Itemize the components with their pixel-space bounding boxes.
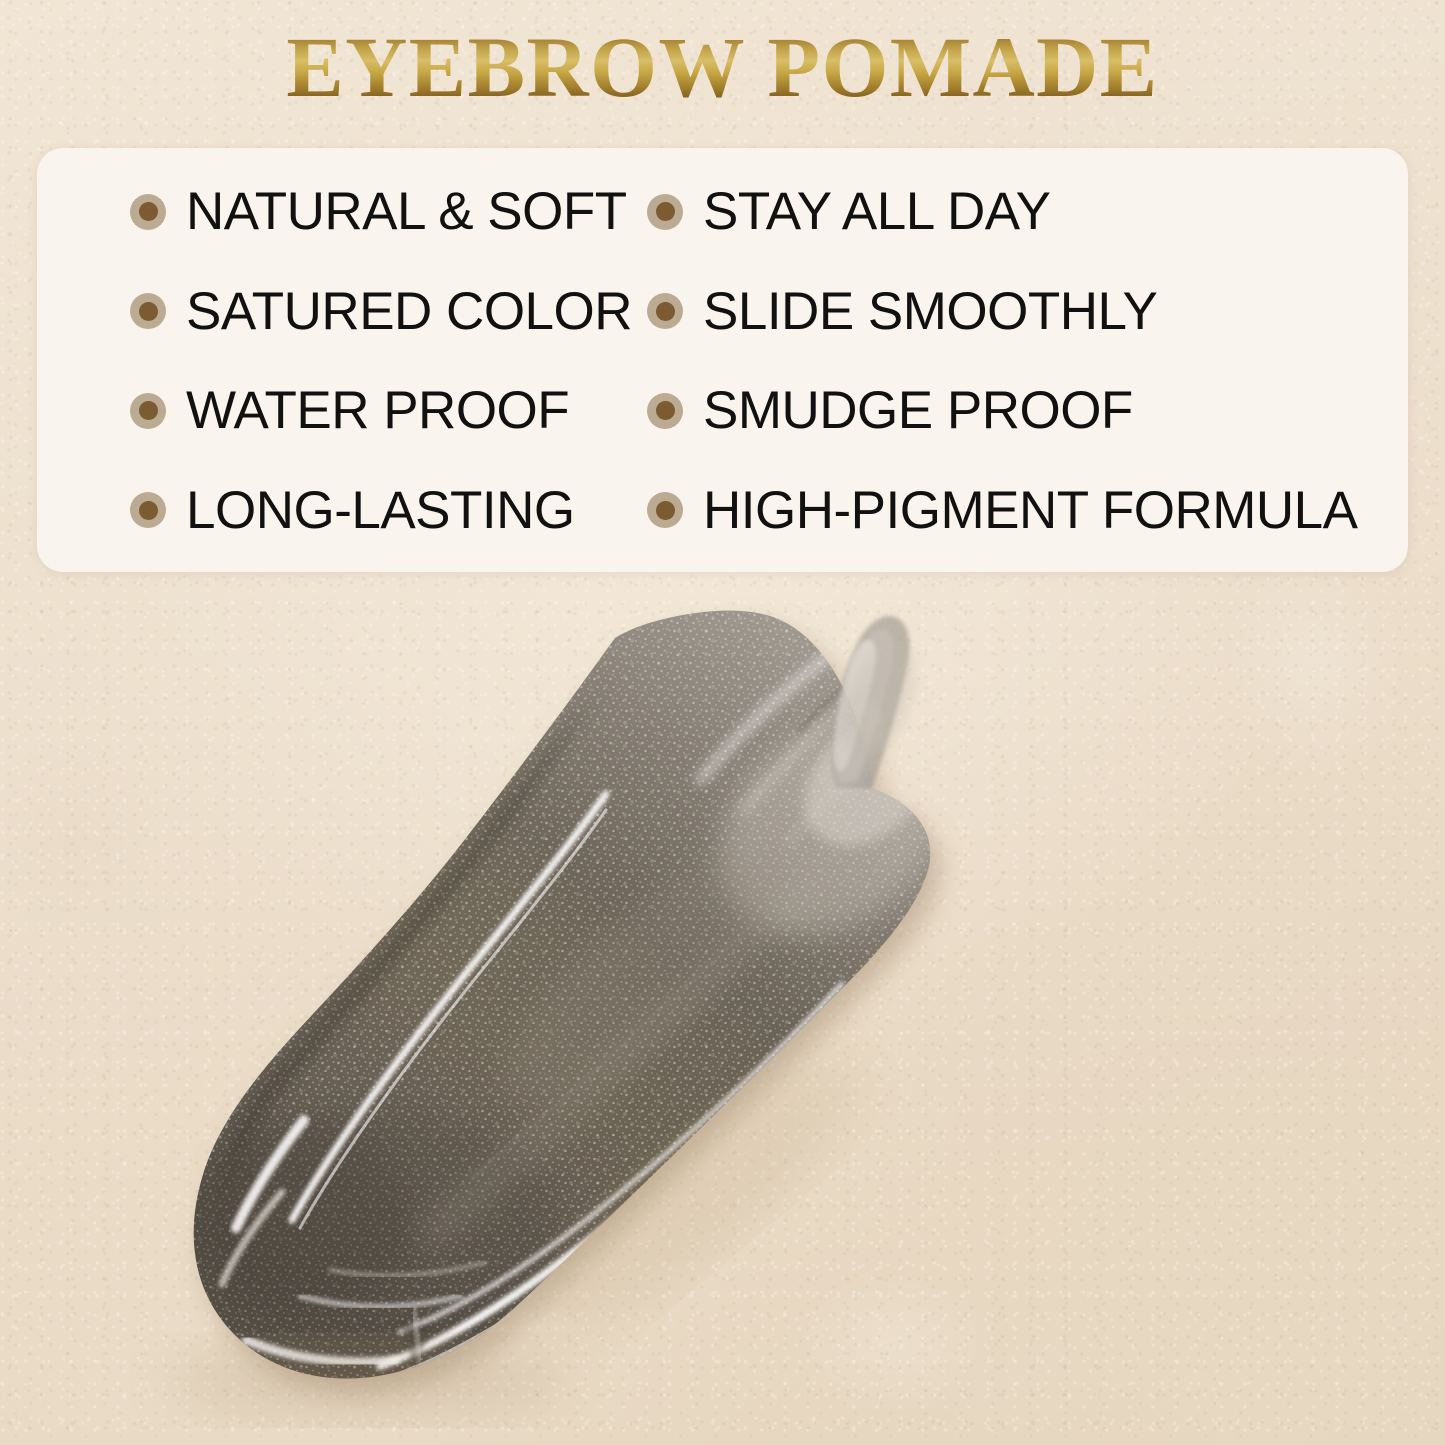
bullet-dot-icon [647,393,683,429]
bullet-dot-icon [647,492,683,528]
swatch-contact-shadow [168,1340,568,1420]
features-grid: NATURAL & SOFT STAY ALL DAY SATURED COLO… [37,148,1408,572]
product-swatch [0,580,1445,1445]
bullet-dot-icon [130,194,166,230]
feature-label: WATER PROOF [186,384,569,437]
feature-label: STAY ALL DAY [703,185,1051,238]
bullet-dot-icon [647,293,683,329]
features-card: NATURAL & SOFT STAY ALL DAY SATURED COLO… [37,148,1408,572]
feature-item-slide-smoothly: SLIDE SMOOTHLY [617,262,1408,362]
feature-label: HIGH-PIGMENT FORMULA [703,484,1358,537]
page-title: EYEBROW POMADE [0,22,1445,112]
feature-item-smudge-proof: SMUDGE PROOF [617,361,1408,461]
feature-item-satured-color: SATURED COLOR [37,262,617,362]
feature-item-water-proof: WATER PROOF [37,361,617,461]
feature-label: LONG-LASTING [186,484,575,537]
feature-item-long-lasting: LONG-LASTING [37,461,617,561]
pomade-swatch-illustration [0,580,1445,1445]
feature-item-natural-soft: NATURAL & SOFT [37,162,617,262]
feature-item-stay-all-day: STAY ALL DAY [617,162,1408,262]
feature-item-high-pigment-formula: HIGH-PIGMENT FORMULA [617,461,1408,561]
bullet-dot-icon [130,492,166,528]
feature-label: SLIDE SMOOTHLY [703,285,1157,338]
bullet-dot-icon [647,194,683,230]
bullet-dot-icon [130,393,166,429]
feature-label: NATURAL & SOFT [186,185,627,238]
feature-label: SMUDGE PROOF [703,384,1133,437]
product-marketing-image: EYEBROW POMADE NATURAL & SOFT STAY ALL D… [0,0,1445,1445]
bullet-dot-icon [130,293,166,329]
feature-label: SATURED COLOR [186,285,632,338]
